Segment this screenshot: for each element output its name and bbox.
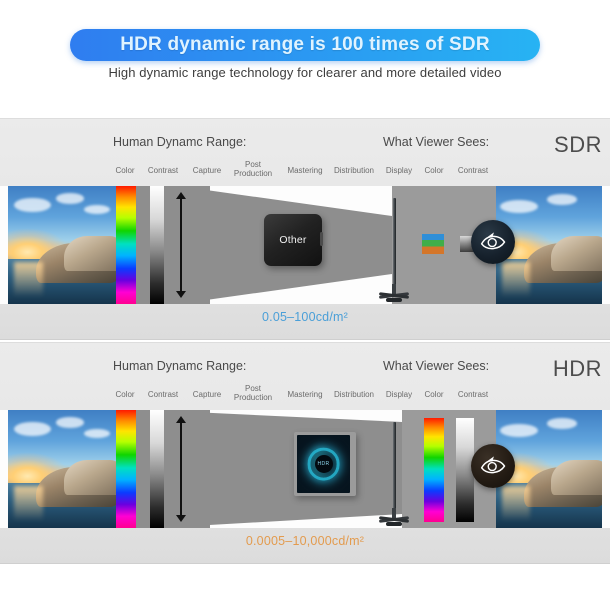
- sdr-right-heading: What Viewer Sees:: [383, 135, 489, 149]
- hdr-right-heading: What Viewer Sees:: [383, 359, 489, 373]
- panel-bottom-divider-hdr: [0, 563, 610, 564]
- dynamic-range-arrow-sdr: [174, 192, 188, 298]
- viewer-eye-badge-sdr: [471, 220, 515, 264]
- stage-label-distribution-hdr: Distribution: [334, 391, 374, 400]
- stage-label-contrast-hdr: Contrast: [148, 391, 178, 400]
- stage-label-mastering-hdr: Mastering: [287, 391, 322, 400]
- contrast-bar-sdr: [150, 186, 164, 304]
- viewer-eye-badge-hdr: [471, 444, 515, 488]
- stage-label-post-production: Post Production: [234, 161, 272, 178]
- tv-display-hdr: [388, 422, 404, 528]
- panel-top-divider: [0, 118, 610, 119]
- stage-label-color-out: Color: [424, 167, 443, 176]
- headline-banner: HDR dynamic range is 100 times of SDR: [70, 29, 540, 61]
- stage-label-mastering: Mastering: [287, 167, 322, 176]
- header: HDR dynamic range is 100 times of SDR Hi…: [0, 0, 610, 110]
- panel-hdr: Human Dynamc Range: What Viewer Sees: HD…: [0, 342, 610, 564]
- sdr-stage-labels: Color Contrast Capture Post Production M…: [0, 160, 610, 184]
- stage-label-capture-hdr: Capture: [193, 391, 221, 400]
- sdr-range-caption: 0.05–100cd/m²: [0, 310, 610, 324]
- stage-label-contrast-out-hdr: Contrast: [458, 391, 488, 400]
- tv-display-sdr: [388, 198, 404, 304]
- hdr-range-caption: 0.0005–10,000cd/m²: [0, 534, 610, 548]
- device-box-hdr: HDR: [294, 432, 356, 496]
- hdr-mode-label: HDR: [553, 356, 602, 382]
- panel-top-divider-hdr: [0, 342, 610, 343]
- hdr-stage-labels: Color Contrast Capture Post Production M…: [0, 384, 610, 408]
- color-gamut-bar-hdr: [116, 410, 136, 528]
- stage-label-color-out-hdr: Color: [424, 391, 443, 400]
- hdr-pipeline-diagram: HDR: [0, 410, 610, 528]
- subtitle-text: High dynamic range technology for cleare…: [0, 65, 610, 80]
- hdr-left-heading: Human Dynamc Range:: [113, 359, 246, 373]
- eye-icon: [479, 228, 507, 256]
- device-box-sdr: Other: [264, 214, 322, 266]
- stage-label-display-hdr: Display: [386, 391, 412, 400]
- source-photo-sdr: [8, 186, 116, 304]
- sdr-mode-label: SDR: [554, 132, 602, 158]
- color-gamut-bar-sdr: [116, 186, 136, 304]
- headline-text: HDR dynamic range is 100 times of SDR: [120, 34, 490, 56]
- stage-label-color-hdr: Color: [115, 391, 134, 400]
- stage-label-display: Display: [386, 167, 412, 176]
- infographic-page: HDR dynamic range is 100 times of SDR Hi…: [0, 0, 610, 610]
- output-color-bar-sdr: [422, 234, 444, 254]
- stage-label-contrast-out: Contrast: [458, 167, 488, 176]
- stage-label-distribution: Distribution: [334, 167, 374, 176]
- dynamic-range-arrow-hdr: [174, 416, 188, 522]
- eye-icon: [479, 452, 507, 480]
- device-box-label-hdr: HDR: [317, 461, 329, 467]
- source-photo-hdr: [8, 410, 116, 528]
- panel-bottom-divider: [0, 339, 610, 340]
- device-box-label: Other: [279, 234, 306, 246]
- panel-sdr: Human Dynamc Range: What Viewer Sees: SD…: [0, 118, 610, 340]
- sdr-left-heading: Human Dynamc Range:: [113, 135, 246, 149]
- sdr-pipeline-diagram: Other: [0, 186, 610, 304]
- contrast-bar-hdr: [150, 410, 164, 528]
- stage-label-contrast: Contrast: [148, 167, 178, 176]
- stage-label-color: Color: [115, 167, 134, 176]
- stage-label-post-production-hdr: Post Production: [234, 385, 272, 402]
- output-color-bar-hdr: [424, 418, 444, 522]
- stage-label-capture: Capture: [193, 167, 221, 176]
